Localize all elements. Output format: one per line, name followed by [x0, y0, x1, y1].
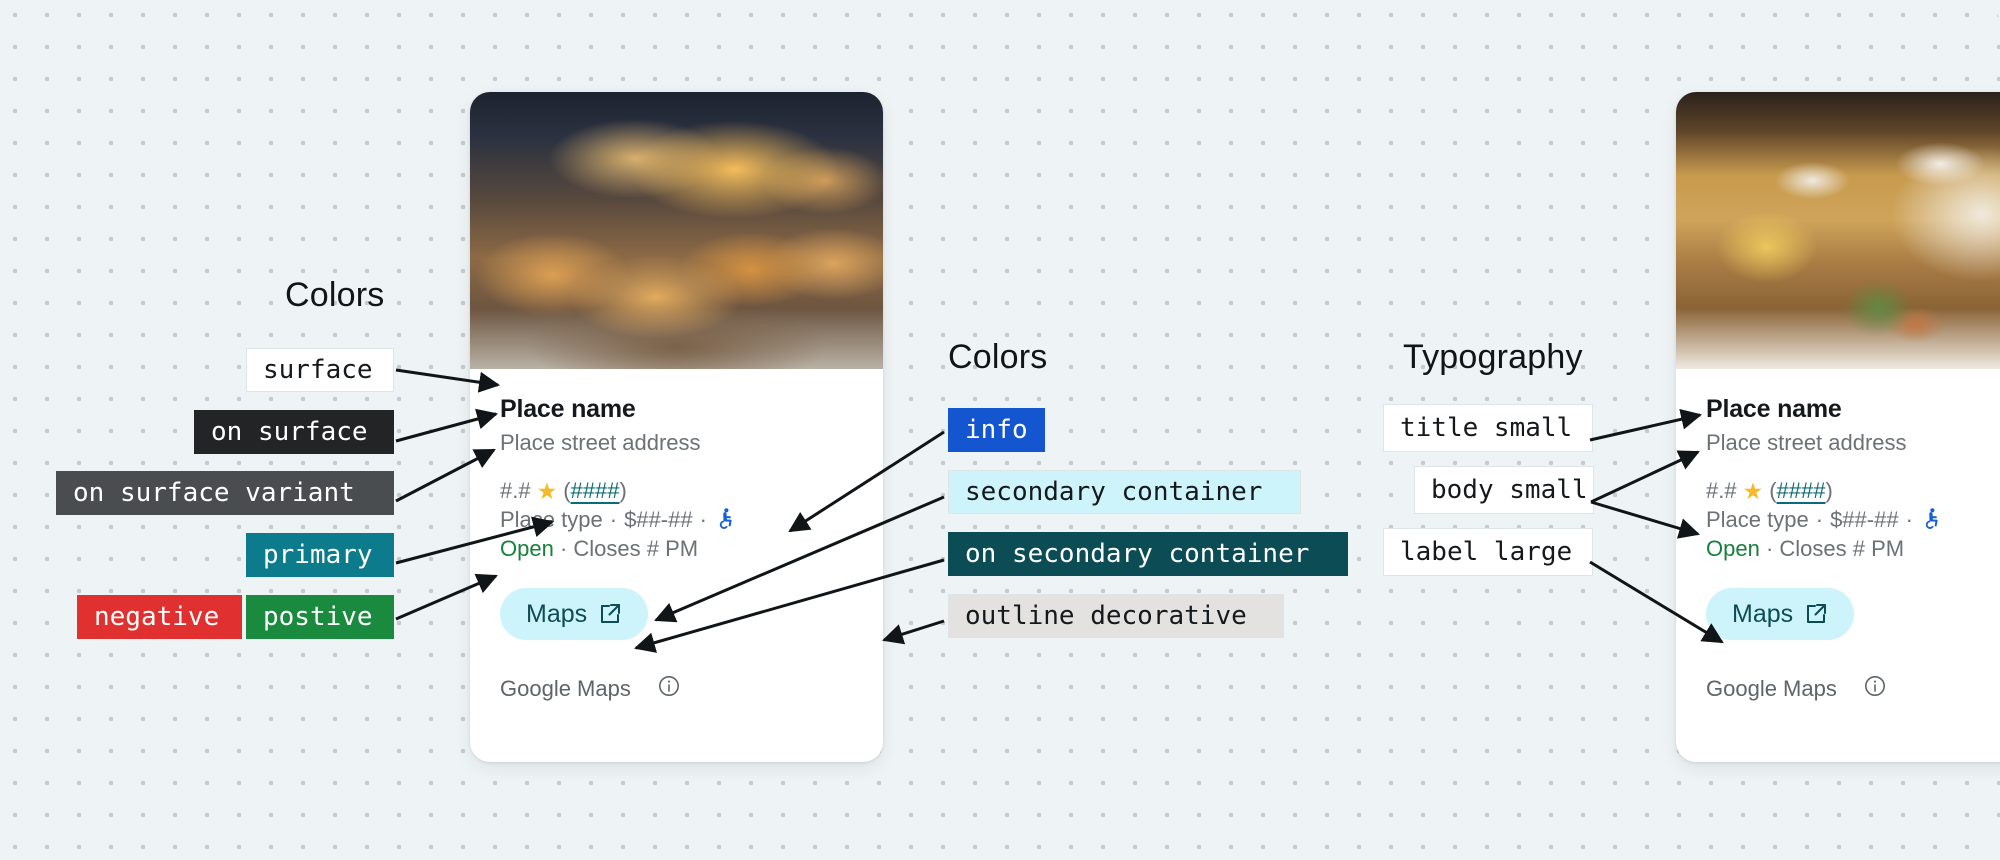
chip-label-large[interactable]: label large — [1383, 528, 1593, 576]
card-footer: Google Maps — [1676, 674, 2000, 729]
paren-open: ( — [563, 478, 570, 503]
cafe-counter-interior-photo — [1676, 92, 2000, 369]
footer-attribution: Google Maps — [1706, 676, 1837, 702]
maps-button[interactable]: Maps — [1706, 588, 1854, 640]
heading-colors-mid: Colors — [948, 338, 1047, 377]
maps-button[interactable]: Maps — [500, 588, 648, 640]
info-circle-icon[interactable] — [1863, 674, 1887, 703]
card-photo-bakery — [470, 92, 883, 369]
chip-label: on surface variant — [73, 480, 355, 506]
paren-close: ) — [620, 478, 627, 503]
chip-postive[interactable]: postive — [246, 595, 394, 639]
review-count-link[interactable]: (####) — [563, 478, 627, 504]
hours-closing: Closes # PM — [573, 536, 698, 561]
place-card-right: Place name Place street address #.# ★ (#… — [1676, 92, 2000, 762]
chip-negative[interactable]: negative — [77, 595, 242, 639]
chip-on-surface[interactable]: on surface — [194, 410, 394, 454]
maps-button-label: Maps — [1732, 600, 1793, 629]
external-link-icon — [598, 602, 622, 626]
rating-row: #.# ★ (####) — [500, 478, 853, 504]
chip-label: postive — [263, 604, 373, 630]
hours-status: Open — [500, 536, 554, 561]
chip-label: surface — [263, 357, 373, 383]
chip-label: body small — [1431, 477, 1588, 503]
chip-on-surface-variant[interactable]: on surface variant — [56, 471, 394, 515]
hours-status: Open — [1706, 536, 1760, 561]
card-footer: Google Maps — [470, 674, 883, 729]
star-icon: ★ — [537, 480, 558, 503]
place-address: Place street address — [500, 430, 853, 456]
chip-label: title small — [1400, 415, 1572, 441]
chip-label: label large — [1400, 539, 1572, 565]
place-name: Place name — [500, 395, 853, 424]
hours-row: Open · Closes # PM — [1706, 536, 2000, 562]
card-photo-cafe — [1676, 92, 2000, 369]
meta-separator-1: · — [1816, 507, 1823, 533]
meta-separator-2: · — [700, 507, 707, 533]
meta-place-type: Place type — [500, 507, 603, 533]
review-count-link[interactable]: (####) — [1769, 478, 1833, 504]
chip-info[interactable]: info — [948, 408, 1045, 452]
place-card-left: Place name Place street address #.# ★ (#… — [470, 92, 883, 762]
card-body: Place name Place street address #.# ★ (#… — [470, 369, 883, 640]
external-link-icon — [1804, 602, 1828, 626]
chip-body-small[interactable]: body small — [1414, 466, 1594, 514]
meta-price-range: $##-## — [624, 507, 693, 533]
hours-separator: · — [560, 536, 567, 561]
rating-value: #.# — [1706, 478, 1737, 504]
wheelchair-accessible-icon — [1920, 507, 1942, 533]
chip-label: info — [965, 417, 1028, 443]
chip-primary[interactable]: primary — [246, 533, 394, 577]
meta-separator-2: · — [1906, 507, 1913, 533]
review-count-number: #### — [1777, 478, 1826, 503]
bakery-pastries-display-photo — [470, 92, 883, 369]
wheelchair-accessible-icon — [714, 507, 736, 533]
review-count-number: #### — [571, 478, 620, 503]
chip-secondary-container[interactable]: secondary container — [948, 470, 1301, 514]
hours-separator: · — [1766, 536, 1773, 561]
chip-label: outline decorative — [965, 603, 1247, 629]
heading-typography: Typography — [1403, 338, 1583, 377]
info-circle-icon[interactable] — [657, 674, 681, 703]
chip-label: negative — [94, 604, 219, 630]
hours-row: Open · Closes # PM — [500, 536, 853, 562]
rating-value: #.# — [500, 478, 531, 504]
chip-title-small[interactable]: title small — [1383, 404, 1593, 452]
chip-on-secondary-container[interactable]: on secondary container — [948, 532, 1348, 576]
paren-close: ) — [1826, 478, 1833, 503]
place-name: Place name — [1706, 395, 2000, 424]
footer-attribution: Google Maps — [500, 676, 631, 702]
star-icon: ★ — [1743, 480, 1764, 503]
chip-label: primary — [263, 542, 373, 568]
meta-place-type: Place type — [1706, 507, 1809, 533]
chip-surface[interactable]: surface — [246, 348, 394, 392]
place-address: Place street address — [1706, 430, 2000, 456]
chip-outline-decorative[interactable]: outline decorative — [948, 594, 1284, 638]
hours-closing: Closes # PM — [1779, 536, 1904, 561]
meta-row: Place type · $##-## · — [1706, 507, 2000, 533]
card-body: Place name Place street address #.# ★ (#… — [1676, 369, 2000, 640]
paren-open: ( — [1769, 478, 1776, 503]
maps-button-label: Maps — [526, 600, 587, 629]
meta-price-range: $##-## — [1830, 507, 1899, 533]
rating-row: #.# ★ (####) — [1706, 478, 2000, 504]
chip-label: on secondary container — [965, 541, 1309, 567]
chip-label: on surface — [211, 419, 368, 445]
chip-label: secondary container — [965, 479, 1262, 505]
meta-row: Place type · $##-## · — [500, 507, 853, 533]
meta-separator-1: · — [610, 507, 617, 533]
heading-colors-left: Colors — [285, 276, 384, 315]
